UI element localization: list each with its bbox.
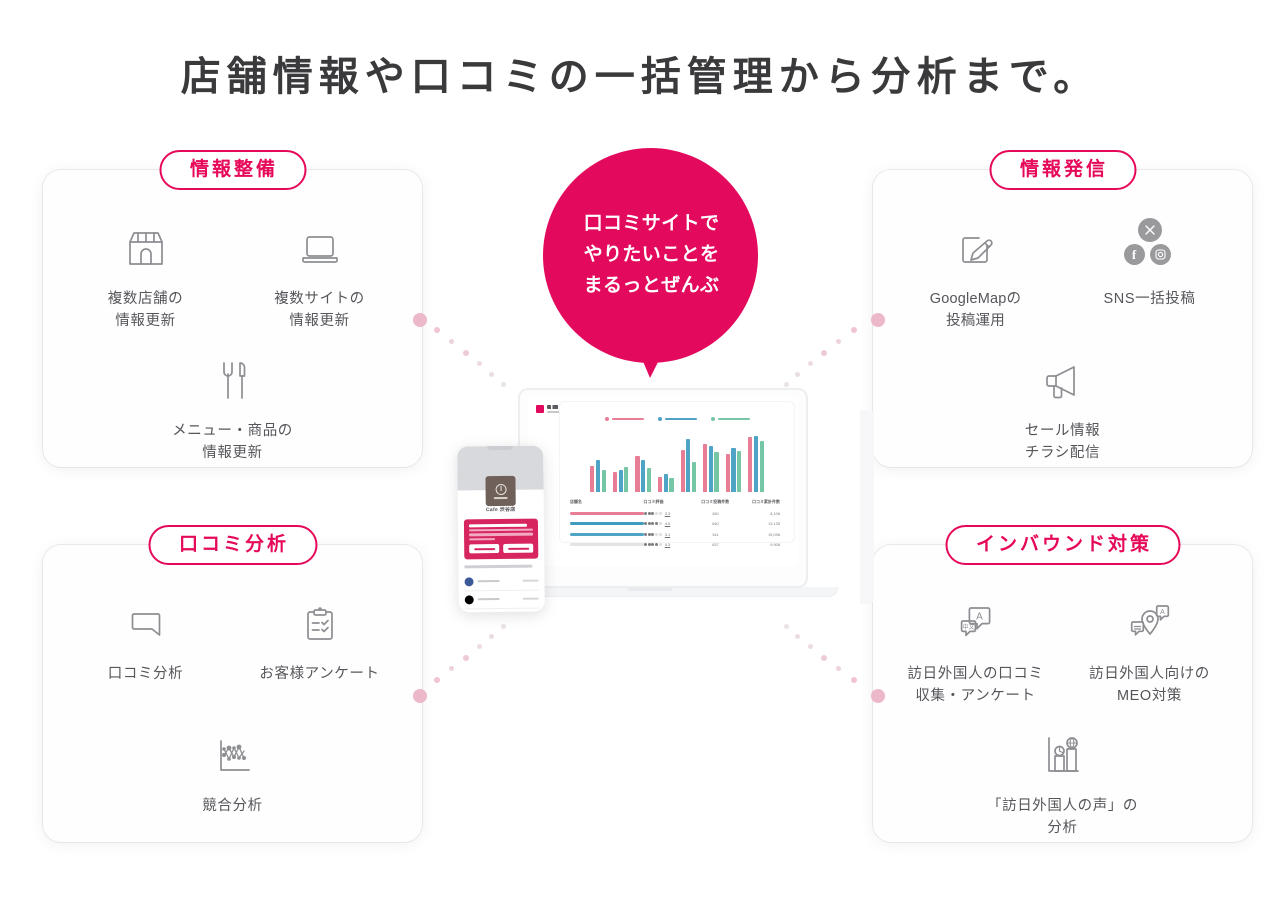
store-logo-wordmark — [494, 496, 508, 498]
chart-legend — [570, 417, 784, 421]
phone-side-panel — [860, 410, 874, 604]
card-kuchikomi-bunseki: 口コミ分析 口コミ分析 — [43, 545, 422, 842]
bar-group — [748, 436, 764, 492]
feature-inbound-review-collection[interactable]: A 中文 訪日外国人の口コミ 収集・アンケート — [889, 593, 1063, 708]
bar — [619, 470, 623, 492]
star-icon — [655, 512, 658, 515]
feature-label: お客様アンケート — [259, 663, 379, 685]
rating-value: 4.0 — [665, 521, 670, 526]
bar — [737, 451, 741, 492]
bar-group — [613, 467, 629, 492]
bar — [703, 444, 707, 492]
feature-sns-bulk-post[interactable]: f SNS一括投稿 — [1063, 218, 1237, 333]
feature-label: セール情報 チラシ配信 — [1025, 420, 1101, 465]
bar — [647, 468, 651, 492]
phone-survey-button[interactable] — [503, 544, 533, 553]
feature-review-analysis[interactable]: 口コミ分析 — [59, 593, 233, 685]
bar-group — [635, 456, 651, 492]
storefront-icon — [123, 218, 169, 280]
feature-label: 「訪日外国人の声」の 分析 — [987, 795, 1138, 840]
phone-login-row-x[interactable] — [465, 590, 539, 609]
rating-cell: 4.3 — [644, 542, 693, 547]
feature-competitor-analysis[interactable]: 競合分析 — [146, 725, 320, 817]
legend-item — [658, 417, 697, 421]
feature-label: 口コミ分析 — [108, 663, 184, 685]
feature-label: SNS一括投稿 — [1103, 288, 1195, 310]
translate-bubbles-icon: A 中文 — [950, 593, 1002, 655]
facebook-icon: f — [1124, 244, 1145, 265]
star-icon — [659, 533, 662, 536]
bar — [681, 450, 685, 492]
map-pin-translate-icon: A — [1124, 593, 1176, 655]
connector-endpoint-dot — [413, 313, 427, 327]
bar — [731, 448, 735, 492]
store-name-bar — [570, 533, 644, 536]
card-badge-joho-seibi: 情報整備 — [159, 150, 306, 190]
phone-login-rows — [464, 572, 538, 609]
device-mockups: 店舗名 口コミ評価 口コミ投稿件数 口コミ累計件数 3.34508,1064.0… — [440, 388, 860, 620]
feature-label: 訪日外国人の口コミ 収集・アンケート — [908, 663, 1044, 708]
feature-label: メニュー・商品の 情報更新 — [172, 420, 293, 465]
bar — [760, 441, 764, 492]
table-row[interactable]: 4.064013,135 — [570, 519, 784, 530]
bar — [709, 446, 713, 492]
bar — [726, 454, 730, 492]
star-icon — [644, 543, 647, 546]
table-row[interactable]: 3.134115,096 — [570, 529, 784, 540]
bar — [590, 466, 594, 492]
posts-count: 341 — [693, 532, 738, 537]
rating-value: 4.3 — [665, 542, 670, 547]
bar — [664, 474, 668, 492]
bar — [602, 470, 606, 492]
star-icon — [659, 543, 662, 546]
feature-label: 複数店舗の 情報更新 — [108, 288, 184, 333]
column-header: 口コミ累計件数 — [738, 499, 784, 505]
phone-review-button[interactable] — [469, 544, 499, 553]
laptop-icon — [297, 218, 343, 280]
feature-label: 複数サイトの 情報更新 — [274, 288, 365, 333]
bar — [635, 456, 639, 492]
rating-value: 3.3 — [665, 511, 670, 516]
star-icon — [644, 522, 647, 525]
phone-header — [457, 446, 543, 491]
bar — [641, 460, 645, 492]
bar — [624, 467, 628, 492]
instagram-icon — [1150, 244, 1171, 265]
table-row[interactable]: 3.34508,106 — [570, 508, 784, 519]
feature-multi-store-update[interactable]: 複数店舗の 情報更新 — [59, 218, 233, 333]
star-icon — [655, 533, 658, 536]
rating-cell: 3.3 — [644, 511, 693, 516]
svg-text:中文: 中文 — [962, 623, 974, 631]
feature-inbound-meo[interactable]: A 訪日外国人向けの MEO対策 — [1063, 593, 1237, 708]
star-icon — [655, 522, 658, 525]
bar — [692, 462, 696, 492]
dashboard-panel: 店舗名 口コミ評価 口コミ投稿件数 口コミ累計件数 3.34508,1064.0… — [560, 402, 794, 542]
card-badge-kuchikomi-bunseki: 口コミ分析 — [148, 525, 317, 565]
globe-bar-chart-icon — [1038, 725, 1088, 787]
card-badge-inbound-taisaku: インバウンド対策 — [945, 525, 1180, 565]
phone-mockup: Cafe 渋谷店 — [457, 446, 545, 613]
card-joho-seibi: 情報整備 複数店舗の 情報更新 — [43, 170, 422, 467]
posts-count: 637 — [693, 542, 738, 547]
bar-group — [703, 444, 719, 492]
chat-bubble-icon — [123, 593, 169, 655]
bar — [669, 478, 673, 492]
star-icon — [648, 522, 651, 525]
clipboard-check-icon — [297, 593, 343, 655]
review-bar-chart — [570, 430, 784, 492]
feature-menu-product-update[interactable]: メニュー・商品の 情報更新 — [146, 350, 320, 465]
star-icon — [648, 512, 651, 515]
connector-endpoint-dot — [871, 689, 885, 703]
x-twitter-icon — [465, 595, 474, 604]
page-title: 店舗情報や口コミの一括管理から分析まで。 — [0, 44, 1280, 102]
feature-sale-flyer-delivery[interactable]: セール情報 チラシ配信 — [976, 350, 1150, 465]
cutlery-icon — [210, 350, 256, 412]
phone-login-row-facebook[interactable] — [464, 572, 538, 591]
table-row[interactable]: 4.36379,908 — [570, 540, 784, 551]
store-name-bar — [570, 522, 644, 525]
x-twitter-icon — [1138, 218, 1162, 242]
svg-text:A: A — [976, 612, 983, 623]
edit-square-icon — [953, 218, 999, 280]
column-header: 口コミ投稿件数 — [693, 499, 739, 505]
star-icon — [651, 512, 654, 515]
total-count: 8,106 — [738, 511, 784, 516]
feature-customer-survey[interactable]: お客様アンケート — [233, 593, 407, 685]
legend-item — [605, 417, 644, 421]
star-icon — [648, 543, 651, 546]
star-icon — [651, 533, 654, 536]
bar — [686, 439, 690, 492]
connector-endpoint-dot — [413, 689, 427, 703]
bar-group — [658, 474, 674, 492]
store-logo-tile — [485, 476, 515, 506]
bar — [596, 460, 600, 492]
total-count: 13,135 — [738, 521, 784, 526]
bar-group — [726, 448, 742, 492]
total-count: 9,908 — [738, 542, 784, 547]
posts-count: 640 — [693, 521, 738, 526]
rating-cell: 3.1 — [644, 532, 693, 537]
rating-value: 3.1 — [665, 532, 670, 537]
sns-bubbles-icon: f — [1119, 218, 1181, 280]
star-icon — [644, 533, 647, 536]
table-header-row: 店舗名 口コミ評価 口コミ投稿件数 口コミ累計件数 — [570, 499, 784, 508]
store-name-bar — [570, 543, 644, 546]
logo-mark-icon — [536, 405, 544, 413]
bar — [754, 436, 758, 492]
bar — [714, 452, 718, 492]
svg-text:A: A — [1160, 609, 1165, 616]
bar-group — [590, 460, 606, 492]
laptop-screen: 店舗名 口コミ評価 口コミ投稿件数 口コミ累計件数 3.34508,1064.0… — [528, 397, 798, 566]
feature-label: GoogleMapの 投稿運用 — [930, 288, 1021, 333]
posts-count: 450 — [693, 511, 738, 516]
facebook-icon — [465, 577, 474, 586]
card-badge-joho-hasshin: 情報発信 — [989, 150, 1136, 190]
phone-notch — [487, 446, 513, 450]
feature-label: 訪日外国人向けの MEO対策 — [1089, 663, 1210, 708]
center-speech-bubble: 口コミサイトで やりたいことを まるっとぜんぶ — [543, 148, 758, 363]
legend-item — [711, 417, 750, 421]
store-name-bar — [570, 512, 644, 515]
feature-googlemap-posting[interactable]: GoogleMapの 投稿運用 — [889, 218, 1063, 333]
feature-label: 競合分析 — [202, 795, 262, 817]
phone-note — [464, 565, 538, 568]
star-icon — [651, 522, 654, 525]
feature-multi-site-update[interactable]: 複数サイトの 情報更新 — [233, 218, 407, 333]
laptop-lid: 店舗名 口コミ評価 口コミ投稿件数 口コミ累計件数 3.34508,1064.0… — [518, 388, 808, 588]
clock-icon — [495, 483, 506, 494]
star-icon — [655, 543, 658, 546]
bar-group — [681, 439, 697, 492]
store-review-table: 店舗名 口コミ評価 口コミ投稿件数 口コミ累計件数 3.34508,1064.0… — [570, 499, 784, 550]
star-icon — [651, 543, 654, 546]
phone-card-buttons — [469, 544, 533, 554]
rating-cell: 4.0 — [644, 521, 693, 526]
dashboard-screenshot: 店舗名 口コミ評価 口コミ投稿件数 口コミ累計件数 3.34508,1064.0… — [528, 397, 798, 566]
scatter-line-chart-icon — [210, 725, 256, 787]
feature-inbound-voice-analysis[interactable]: 「訪日外国人の声」の 分析 — [976, 725, 1150, 840]
bar — [748, 437, 752, 492]
star-icon — [659, 522, 662, 525]
center-bubble-text: 口コミサイトで やりたいことを まるっとぜんぶ — [582, 209, 720, 301]
column-header: 口コミ評価 — [644, 499, 693, 505]
star-icon — [659, 512, 662, 515]
star-icon — [644, 512, 647, 515]
column-header: 店舗名 — [570, 499, 644, 505]
infographic-root: 店舗情報や口コミの一括管理から分析まで。 — [0, 0, 1280, 902]
phone-survey-card — [464, 519, 538, 560]
star-icon — [648, 533, 651, 536]
bar — [613, 472, 617, 492]
phone-store-title: Cafe 渋谷店 — [458, 506, 544, 514]
card-joho-hasshin: 情報発信 GoogleMapの 投稿運用 — [873, 170, 1252, 467]
connector-endpoint-dot — [871, 313, 885, 327]
card-inbound-taisaku: インバウンド対策 A 中文 訪日外国人の口コミ 収集・アンケート — [873, 545, 1252, 842]
megaphone-icon — [1038, 350, 1088, 412]
total-count: 15,096 — [738, 532, 784, 537]
bar — [658, 477, 662, 492]
